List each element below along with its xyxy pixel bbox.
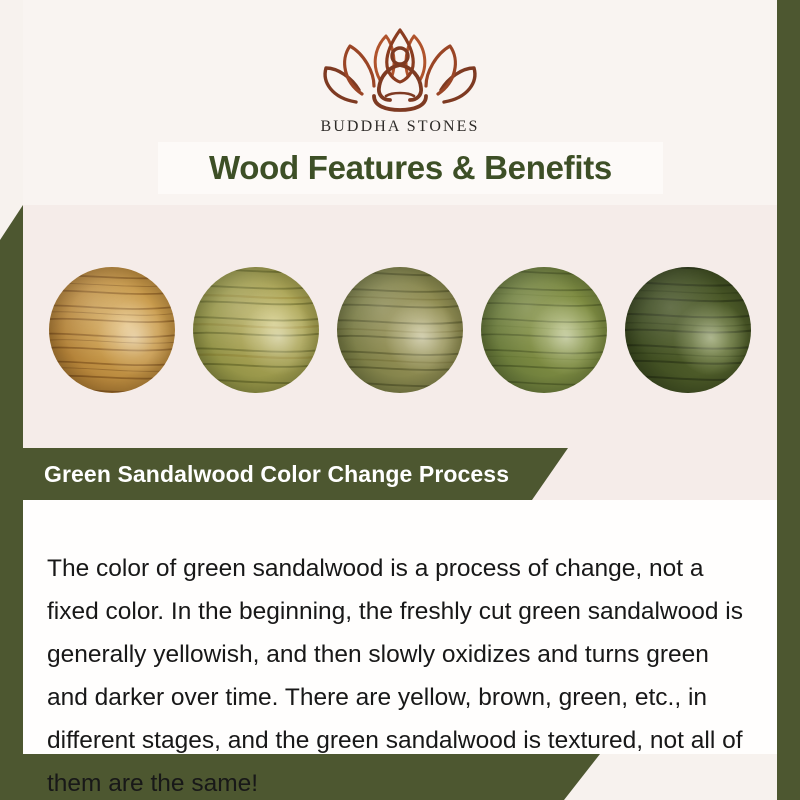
header-panel: BUDDHA STONES Wood Features & Benefits bbox=[23, 0, 777, 205]
wood-bead-stage-5: dark green aged bbox=[625, 267, 751, 393]
bead-highlight bbox=[49, 267, 175, 393]
page-title: Wood Features & Benefits bbox=[209, 149, 612, 187]
page-title-band: Wood Features & Benefits bbox=[158, 142, 663, 194]
bead-highlight bbox=[481, 267, 607, 393]
body-panel: The color of green sandalwood is a proce… bbox=[23, 500, 777, 754]
bead-highlight bbox=[337, 267, 463, 393]
lotus-meditation-icon bbox=[312, 24, 488, 112]
bead-row: freshly cut yellowish yellow-green trans… bbox=[23, 252, 777, 408]
section-banner: Green Sandalwood Color Change Process bbox=[23, 448, 568, 500]
poster-root: BUDDHA STONES Wood Features & Benefits bbox=[0, 0, 800, 800]
bead-highlight bbox=[625, 267, 751, 393]
wood-bead-stage-3: olive oxidizing bbox=[337, 267, 463, 393]
brand-logo: BUDDHA STONES bbox=[23, 24, 777, 136]
frame-left-bar bbox=[0, 0, 23, 800]
wood-bead-stage-2: yellow-green transition bbox=[193, 267, 319, 393]
brand-name: BUDDHA STONES bbox=[320, 118, 479, 136]
body-paragraph: The color of green sandalwood is a proce… bbox=[47, 547, 755, 800]
frame-right-bar bbox=[777, 0, 800, 800]
bead-highlight bbox=[193, 267, 319, 393]
wood-bead-stage-1: freshly cut yellowish bbox=[49, 267, 175, 393]
section-banner-label: Green Sandalwood Color Change Process bbox=[44, 461, 509, 488]
wood-bead-stage-4: green bbox=[481, 267, 607, 393]
